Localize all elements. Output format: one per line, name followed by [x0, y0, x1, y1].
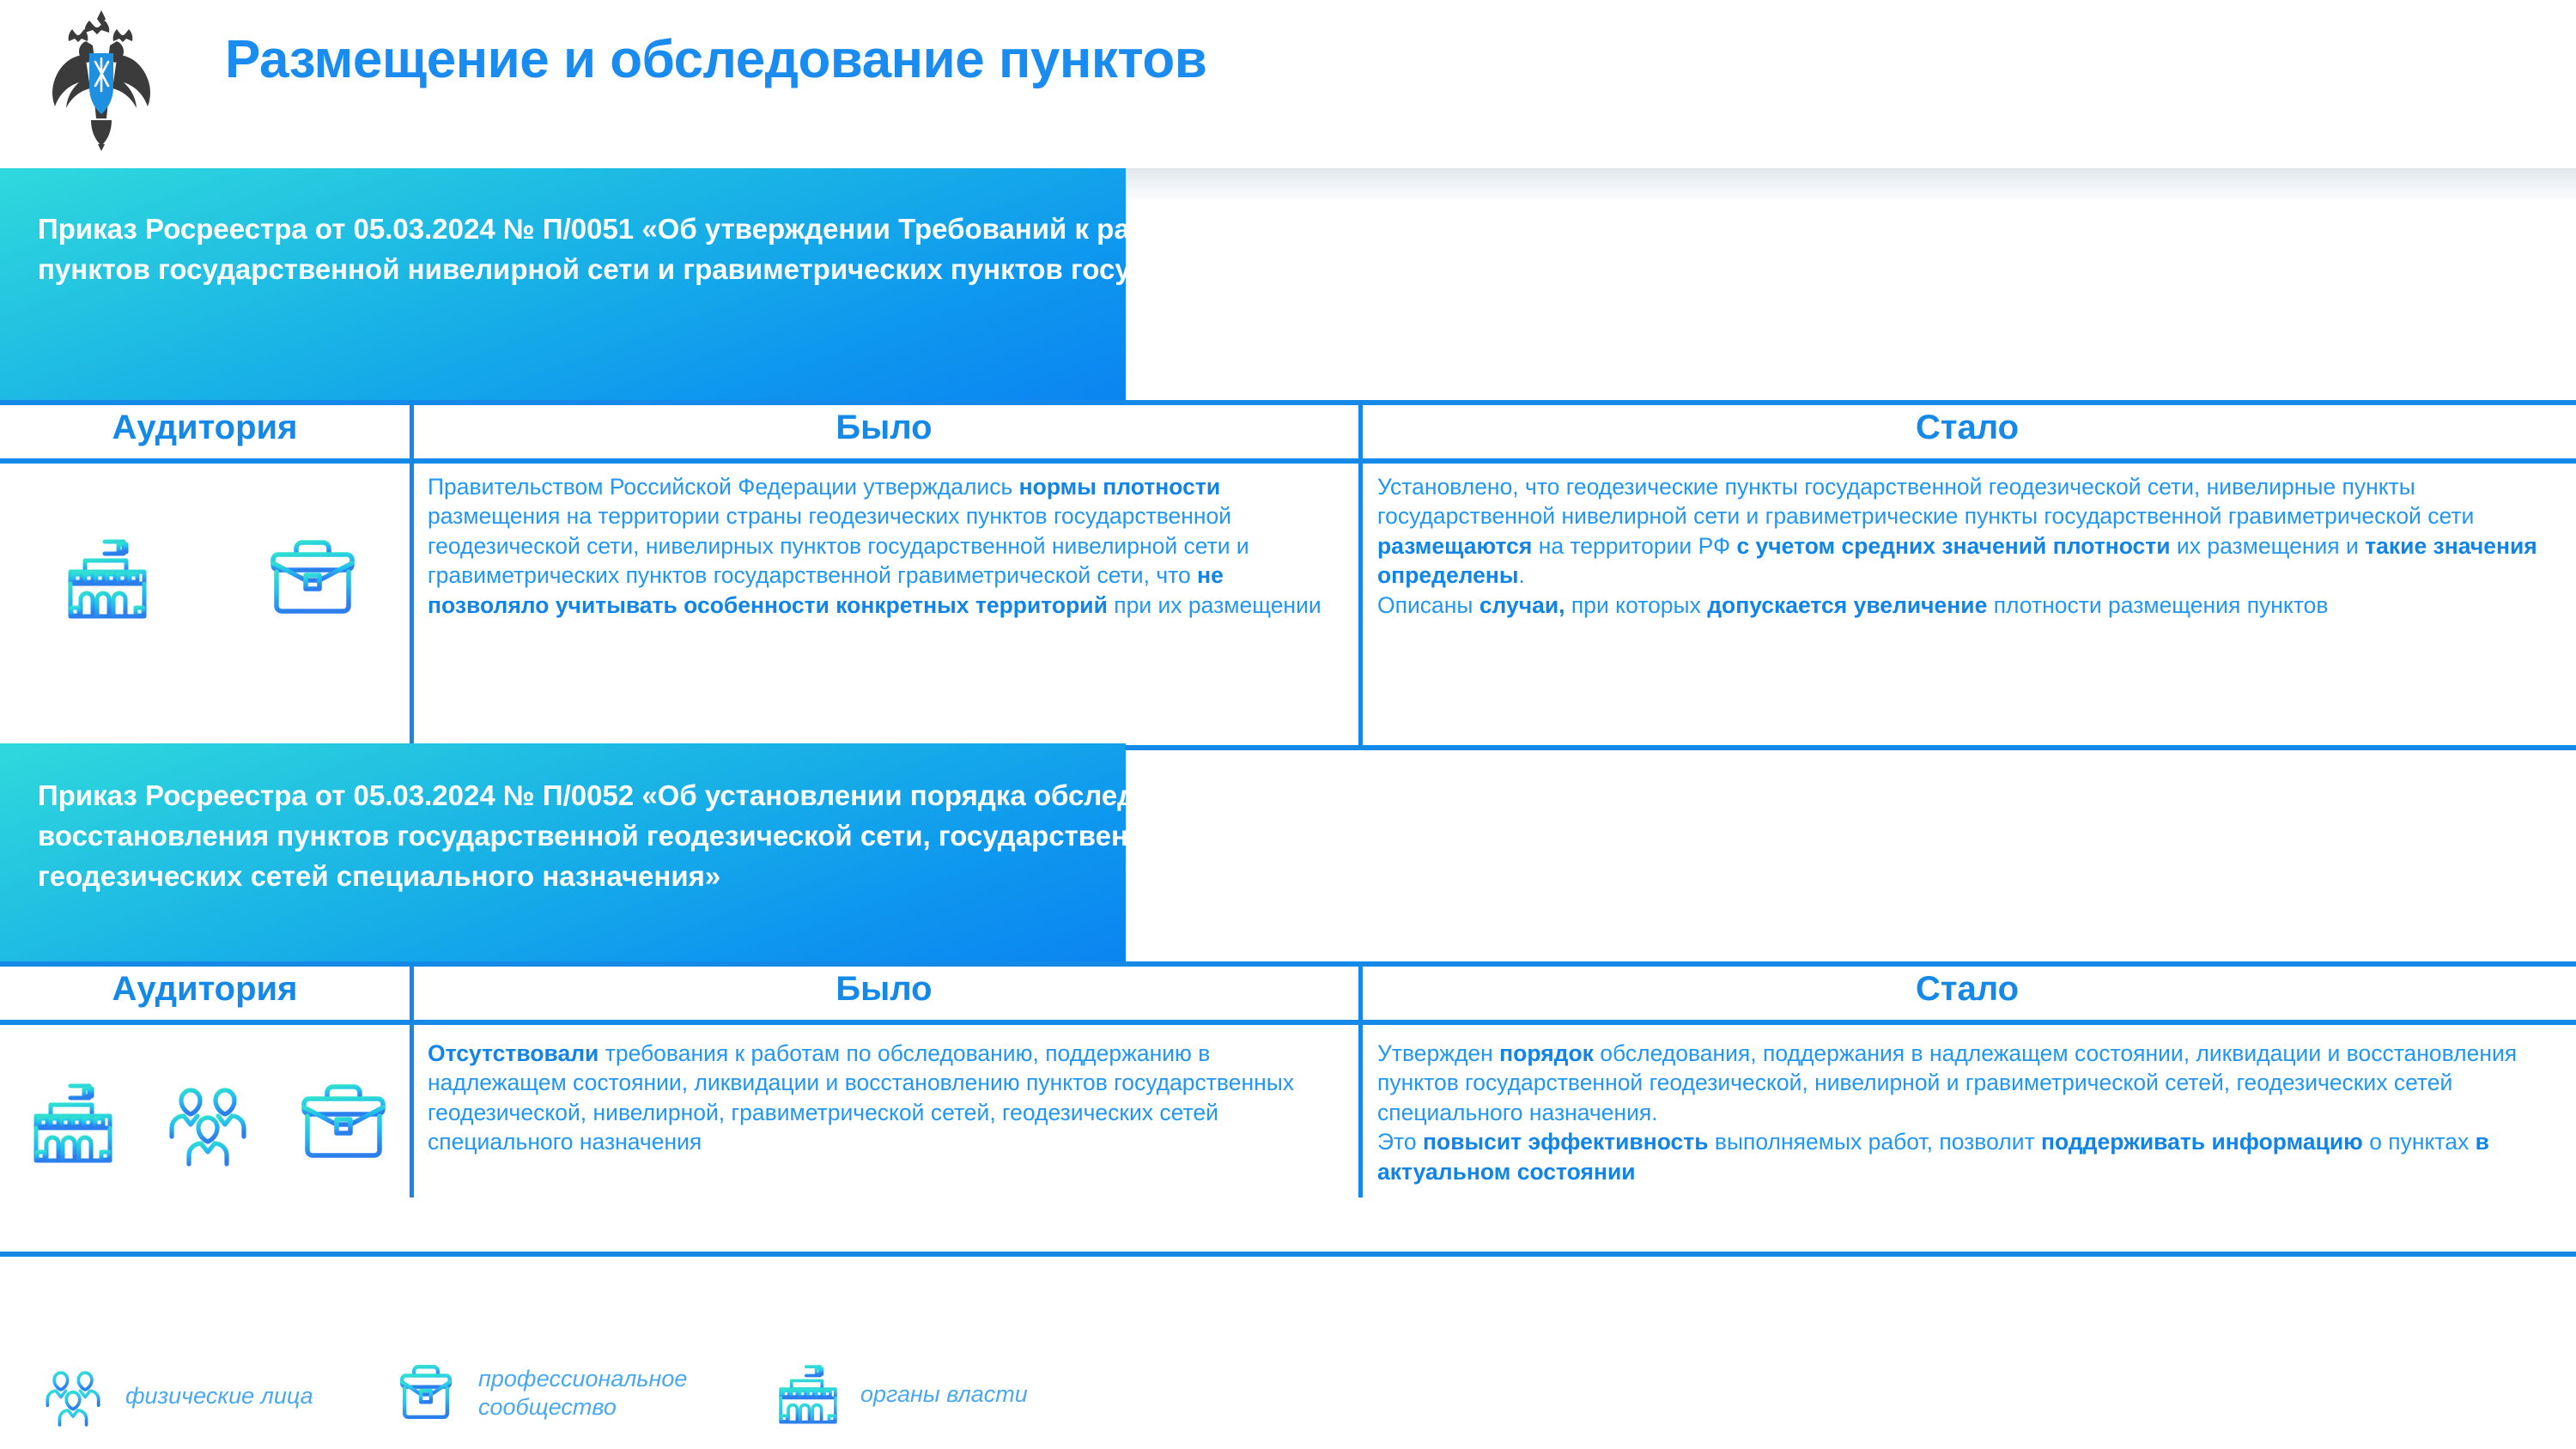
table2-bottom-border	[0, 1252, 2576, 1257]
table1-top-border	[0, 400, 2576, 405]
table2-audience-icons	[26, 1075, 392, 1171]
government-building-icon	[26, 1076, 120, 1169]
order-banner-1-text: Приказ Росреестра от 05.03.2024 № П/0051…	[38, 209, 1126, 290]
table2-col-header-after: Стало	[1358, 970, 2576, 1009]
order-banner-2-text: Приказ Росреестра от 05.03.2024 № П/0052…	[38, 776, 1126, 897]
table1-audience-icons	[60, 532, 361, 625]
table2-before-text: Отсутствовали требования к работам по об…	[428, 1039, 1336, 1157]
table1-before-text: Правительством Российской Федерации утве…	[428, 472, 1336, 620]
government-building-icon	[60, 532, 155, 625]
legend-item-professional-community: профессиональное сообщество	[391, 1360, 687, 1427]
people-group-icon	[38, 1360, 108, 1432]
table2-col-header-audience: Аудитория	[0, 970, 410, 1009]
legend-item-authorities: органы власти	[773, 1360, 1028, 1428]
table1-col-header-after: Стало	[1358, 409, 2576, 447]
legend-label-professional-community: профессиональное сообщество	[478, 1365, 687, 1422]
table1-col-header-audience: Аудитория	[0, 409, 410, 447]
legend-item-individuals: физические лица	[38, 1360, 313, 1432]
briefcase-icon	[264, 534, 361, 623]
table2-col-header-before: Было	[410, 970, 1358, 1009]
table2-header-border	[0, 1020, 2576, 1025]
slide-header: Размещение и обследование пунктов	[0, 0, 2576, 168]
briefcase-icon	[391, 1360, 461, 1427]
table1-after-text: Установлено, что геодезические пункты го…	[1377, 472, 2554, 620]
rosreestr-emblem-icon	[41, 7, 161, 151]
page-title: Размещение и обследование пунктов	[225, 29, 1206, 90]
briefcase-icon	[295, 1078, 392, 1167]
order-banner-2: Приказ Росреестра от 05.03.2024 № П/0052…	[0, 743, 1126, 961]
government-building-icon	[773, 1360, 843, 1428]
people-group-icon	[158, 1075, 258, 1171]
legend-label-individuals: физические лица	[125, 1382, 313, 1410]
table1-col-header-before: Было	[410, 409, 1358, 447]
table2-top-border	[0, 961, 2576, 967]
table1-divider-1	[410, 400, 414, 745]
table1-divider-2	[1358, 400, 1363, 745]
legend: физические лица профессиональ	[0, 1356, 2576, 1449]
table1-header-border	[0, 458, 2576, 464]
legend-label-authorities: органы власти	[860, 1380, 1028, 1409]
slide-root: Размещение и обследование пунктов Приказ…	[0, 0, 2576, 1449]
order-banner-1: Приказ Росреестра от 05.03.2024 № П/0051…	[0, 168, 1126, 400]
table2-after-text: Утвержден порядок обследования, поддержа…	[1377, 1039, 2554, 1186]
